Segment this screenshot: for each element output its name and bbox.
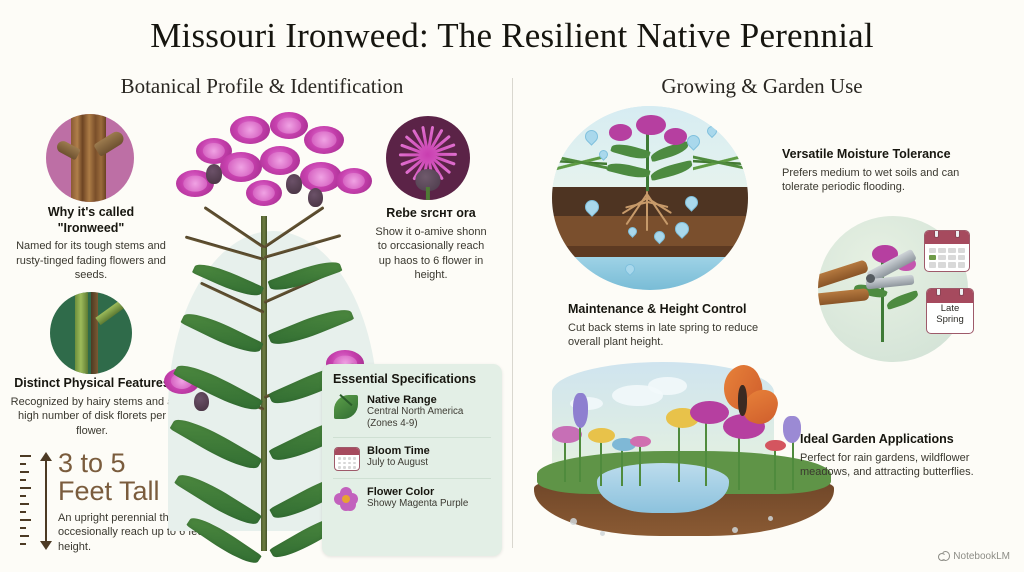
calendar-icon	[924, 230, 970, 272]
maintenance-block: Maintenance & Height Control Cut back st…	[568, 302, 780, 350]
spec-value-bloom-time: July to August	[367, 457, 491, 469]
spec-label-bloom-time: Bloom Time	[367, 445, 491, 457]
spec-row-native-range: Native Range Central North America (Zone…	[333, 392, 491, 437]
infographic-canvas: Missouri Ironweed: The Resilient Native …	[0, 0, 1024, 572]
spec-card-title: Essential Specifications	[333, 372, 491, 386]
maintenance-body: Cut back stems in late spring to reduce …	[568, 321, 780, 350]
calendar-icon	[333, 445, 359, 471]
right-column-heading: Growing & Garden Use	[512, 74, 1012, 99]
notebooklm-logo-icon	[938, 551, 949, 562]
maintenance-heading: Maintenance & Height Control	[568, 302, 780, 318]
spec-row-flower-color: Flower Color Showy Magenta Purple	[333, 478, 491, 519]
floret-circle-icon	[386, 116, 470, 200]
moisture-tolerance-block: Versatile Moisture Tolerance Prefers med…	[782, 147, 992, 195]
hairy-stem-circle-icon	[50, 292, 132, 374]
late-spring-label: Late Spring	[927, 304, 973, 326]
late-spring-calendar-badge: Late Spring	[926, 288, 974, 334]
soil-cross-section-illustration	[552, 106, 748, 290]
essential-specifications-card: Essential Specifications Native Range Ce…	[322, 364, 502, 556]
floret-note-block: Rebe srcнт ora Show it o-amive shonn to …	[372, 206, 490, 283]
spec-label-native-range: Native Range	[367, 394, 491, 406]
rain-garden-illustration	[534, 358, 834, 552]
ruler-icon	[20, 455, 32, 547]
moisture-tolerance-heading: Versatile Moisture Tolerance	[782, 147, 992, 163]
garden-applications-block: Ideal Garden Applications Perfect for ra…	[800, 432, 1014, 480]
notebooklm-watermark: NotebookLM	[938, 551, 1010, 562]
floret-note-body: Show it o-amive shonn to orccasionally r…	[372, 225, 490, 283]
up-down-arrow-icon	[40, 452, 52, 550]
watermark-label: NotebookLM	[953, 551, 1010, 562]
moisture-tolerance-body: Prefers medium to wet soils and can tole…	[782, 166, 992, 195]
garden-applications-heading: Ideal Garden Applications	[800, 432, 1014, 448]
flower-icon	[333, 486, 359, 512]
column-divider	[512, 78, 513, 548]
spec-label-flower-color: Flower Color	[367, 486, 491, 498]
floret-note-heading: Rebe srcнт ora	[372, 206, 490, 222]
garden-applications-body: Perfect for rain gardens, wildflower mea…	[800, 451, 1014, 480]
woody-stem-circle-icon	[46, 114, 134, 202]
spec-value-flower-color: Showy Magenta Purple	[367, 498, 491, 510]
spec-value-native-range: Central North America (Zones 4-9)	[367, 406, 491, 430]
leaf-icon	[333, 394, 359, 420]
spec-row-bloom-time: Bloom Time July to August	[333, 437, 491, 478]
page-title: Missouri Ironweed: The Resilient Native …	[0, 16, 1024, 56]
